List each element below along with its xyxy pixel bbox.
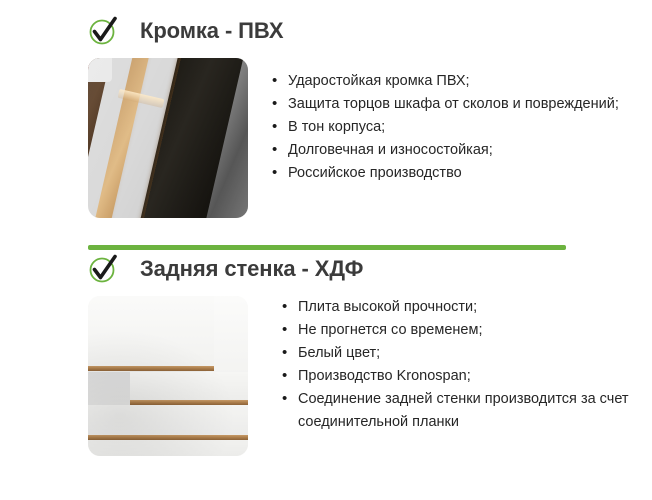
product-features-page: Кромка - ПВХ Ударост: [0, 0, 652, 500]
list-item: Белый цвет;: [282, 342, 652, 365]
section-title: Задняя стенка - ХДФ: [140, 256, 363, 282]
list-item: Не прогнется со временем;: [282, 319, 652, 342]
feature-list: Ударостойкая кромка ПВХ; Защита торцов ш…: [272, 70, 652, 185]
pvc-edge-banding-photo: [88, 58, 248, 218]
list-item: В тон корпуса;: [272, 116, 652, 139]
check-circle-icon: [88, 254, 118, 284]
feature-section-hdf-back-panel: Задняя стенка - ХДФ Плита высок: [0, 248, 652, 456]
photo-shadow: [88, 296, 248, 456]
list-item: Ударостойкая кромка ПВХ;: [272, 70, 652, 93]
hdf-artwork: [88, 296, 248, 456]
pvc-artwork: [88, 58, 248, 218]
section-title: Кромка - ПВХ: [140, 18, 283, 44]
list-item: Долговечная и износостойкая;: [272, 139, 652, 162]
check-circle-icon: [88, 16, 118, 46]
feature-section-pvc-edge: Кромка - ПВХ Ударост: [0, 10, 652, 218]
list-item: Российское производство: [272, 162, 652, 185]
hdf-board-photo: [88, 296, 248, 456]
section-header: Задняя стенка - ХДФ: [0, 248, 652, 290]
list-item: Защита торцов шкафа от сколов и поврежде…: [272, 93, 652, 116]
feature-list: Плита высокой прочности; Не прогнется со…: [282, 296, 652, 434]
list-item: Производство Kronospan;: [282, 365, 652, 388]
section-body: Ударостойкая кромка ПВХ; Защита торцов ш…: [0, 58, 652, 218]
section-header: Кромка - ПВХ: [0, 10, 652, 52]
section-body: Плита высокой прочности; Не прогнется со…: [0, 296, 652, 456]
photo-gloss: [88, 58, 248, 218]
list-item: Плита высокой прочности;: [282, 296, 652, 319]
list-item: Соединение задней стенки производится за…: [282, 388, 652, 434]
